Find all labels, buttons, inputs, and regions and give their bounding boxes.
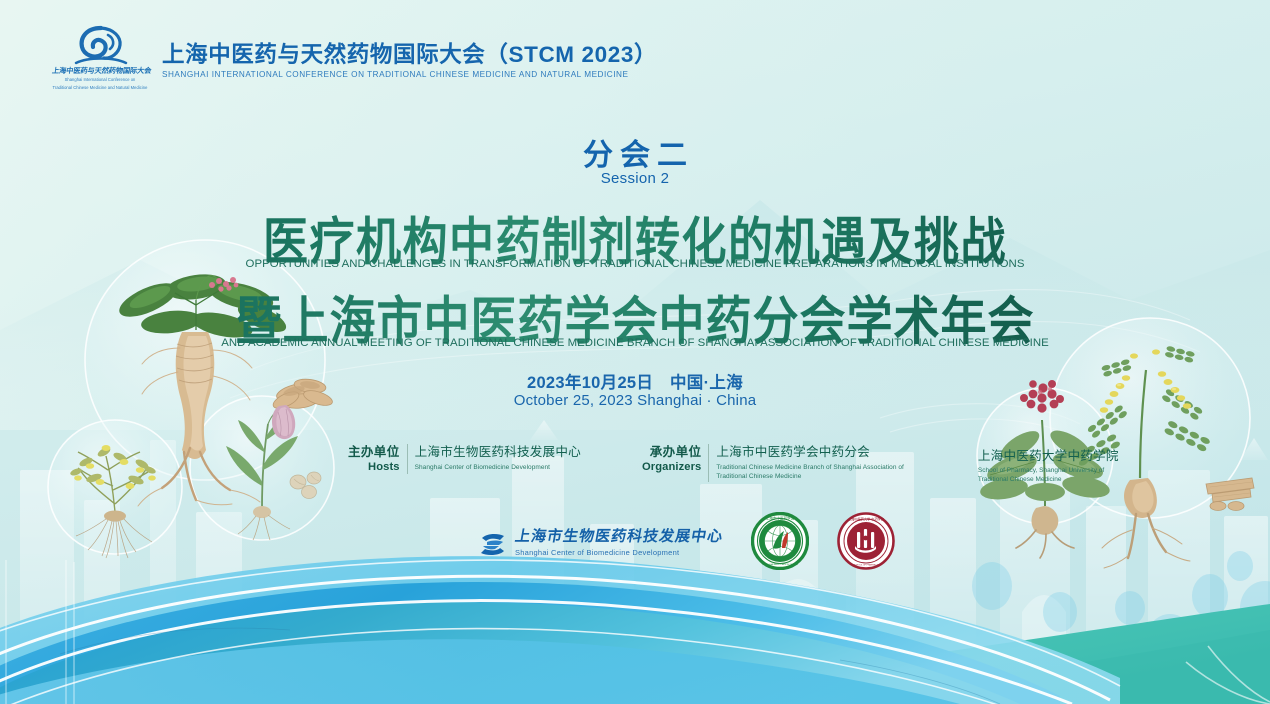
organizers-row: 主办单位 Hosts 上海市生物医药科技发展中心 Shanghai Center… [348,444,1119,485]
spiral-swirl-mark [74,22,128,68]
scbd-mark-icon [478,529,508,559]
svg-text:上海市中医药学会: 上海市中医药学会 [766,516,795,521]
hosts-name-en: Shanghai Center of Biomedicine Developme… [415,463,581,472]
shanghai-university-tcm-seal: 上海中医药大学 中药学院 SCHOOL OF PHARMACY [837,512,895,575]
hosts-body: 上海市生物医药科技发展中心 Shanghai Center of Biomedi… [415,444,581,472]
shanghai-center-biomedicine-development-logo: 上海市生物医药科技发展中心 Shanghai Center of Biomedi… [478,529,723,559]
third-organizer-name-cn: 上海中医药大学中药学院 [978,445,1119,464]
organizers-label: 承办单位 Organizers [642,444,708,474]
tcm-association-seal-icon: 上海市中医药学会 SHANGHAI ASSOCIATION OF TCM [751,512,809,570]
scbd-texts: 上海市生物医药科技发展中心 Shanghai Center of Biomedi… [515,529,723,558]
fritillaria-bulbs-illustration [290,472,321,499]
conference-logo: 上海中医药与天然药物国际大会 Shanghai International Co… [52,22,148,96]
tcm-university-seal-icon: 上海中医药大学 中药学院 SCHOOL OF PHARMACY [837,512,895,570]
bottom-logo-row: 上海市生物医药科技发展中心 Shanghai Center of Biomedi… [478,512,895,575]
plant-circle-ginseng [85,240,325,480]
third-organizer-name-en-line2: Traditional Chinese Medicine [978,475,1119,484]
plant-circle-yellow-herb [48,420,182,554]
conference-title-cn: 上海中医药与天然药物国际大会（STCM 2023） [162,43,657,67]
organizers-body: 上海市中医药学会中药分会 Traditional Chinese Medicin… [716,444,904,482]
logo-calligraphy-cn: 上海中医药与天然药物国际大会 [51,66,148,76]
conference-banner: 上海中医药与天然药物国际大会 Shanghai International Co… [0,0,1270,704]
hosts-name-cn: 上海市生物医药科技发展中心 [415,445,581,461]
sub-title-en: AND ACADEMIC ANNUAL MEETING OF TRADITION… [0,337,1270,349]
conference-header: 上海中医药与天然药物国际大会 Shanghai International Co… [52,22,657,96]
organizers-block: 承办单位 Organizers 上海市中医药学会中药分会 Traditional… [642,444,904,482]
astragalus-slices-illustration [1206,478,1254,511]
organizers-label-en: Organizers [642,460,701,474]
organizers-divider [708,444,709,482]
hosts-label-en: Hosts [348,460,400,474]
main-title-en: OPPORTUNITIES AND CHALLENGES IN TRANSFOR… [0,258,1270,270]
logo-english-line1: Shanghai International Conference on [52,77,148,82]
svg-text:SHANGHAI ASSOCIATION OF TCM: SHANGHAI ASSOCIATION OF TCM [762,563,798,566]
event-date-cn: 2023年10月25日 中国·上海 [0,369,1270,393]
plant-circle-fritillaria [190,396,334,540]
svg-text:SCHOOL OF PHARMACY: SCHOOL OF PHARMACY [854,564,879,567]
organizers-name-cn: 上海市中医药学会中药分会 [716,445,904,461]
yellow-flower-herb-illustration [69,445,156,558]
conference-title-en: SHANGHAI INTERNATIONAL CONFERENCE ON TRA… [162,70,657,79]
hosts-divider [407,444,408,474]
scbd-name-cn: 上海市生物医药科技发展中心 [513,529,724,546]
shanghai-association-tcm-seal: 上海市中医药学会 SHANGHAI ASSOCIATION OF TCM [751,512,809,575]
session-label-en: Session 2 [0,170,1270,187]
hosts-label-cn: 主办单位 [348,444,400,460]
session-label-cn: 分会二 [0,130,1270,174]
logo-english-line2: Traditional Chinese Medicine and Natural… [52,85,148,90]
event-date-en: October 25, 2023 Shanghai · China [0,392,1270,409]
third-organizer-block: 上海中医药大学中药学院 School of Pharmacy, Shanghai… [978,444,1119,485]
conference-header-texts: 上海中医药与天然药物国际大会（STCM 2023） SHANGHAI INTER… [162,39,657,79]
third-organizer-name-en-line1: School of Pharmacy, Shanghai University … [978,466,1119,475]
organizers-name-en-line2: Traditional Chinese Medicine [716,472,904,481]
hosts-block: 主办单位 Hosts 上海市生物医药科技发展中心 Shanghai Center… [348,444,581,474]
svg-text:上海中医药大学 中药学院: 上海中医药大学 中药学院 [848,516,885,521]
hosts-label: 主办单位 Hosts [348,444,407,474]
organizers-label-cn: 承办单位 [642,444,701,460]
scbd-name-en: Shanghai Center of Biomedicine Developme… [515,549,723,558]
organizers-name-en-line1: Traditional Chinese Medicine Branch of S… [716,463,904,472]
fritillaria-illustration [226,405,298,540]
